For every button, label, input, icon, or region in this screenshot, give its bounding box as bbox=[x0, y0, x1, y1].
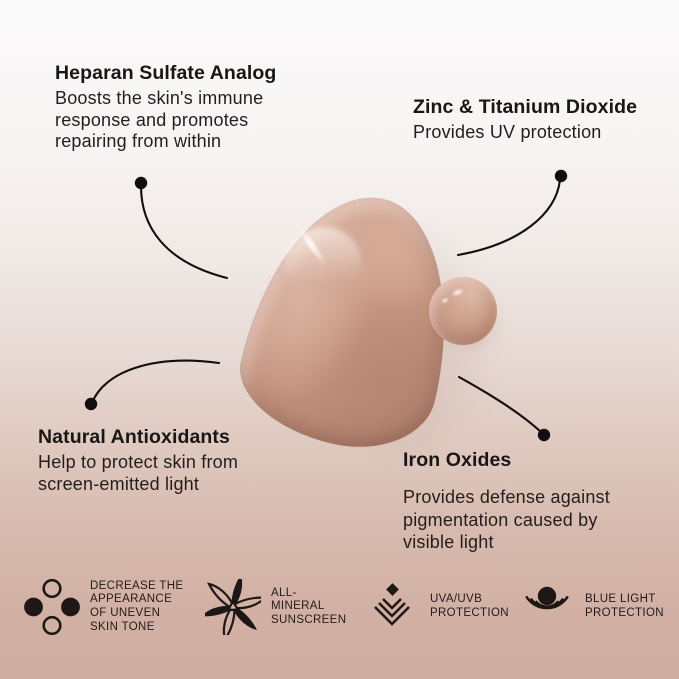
callout-body: Help to protect skin from screen-emitted… bbox=[38, 452, 288, 495]
callout-body: Provides UV protection bbox=[413, 122, 653, 144]
callout-zinc-titanium-dioxide: Zinc & Titanium Dioxide Provides UV prot… bbox=[413, 96, 653, 144]
benefit-blue-light-protection: BLUE LIGHT PROTECTION bbox=[517, 578, 659, 636]
four-circles-icon bbox=[22, 578, 82, 636]
flower-petals-icon bbox=[203, 578, 263, 636]
benefit-label: BLUE LIGHT PROTECTION bbox=[585, 593, 659, 620]
benefit-uva-uvb-protection: UVA/UVB PROTECTION bbox=[362, 578, 500, 636]
callout-natural-antioxidants: Natural Antioxidants Help to protect ski… bbox=[38, 426, 288, 495]
benefit-label: UVA/UVB PROTECTION bbox=[430, 593, 500, 620]
benefit-all-mineral-sunscreen: ALL-MINERAL SUNSCREEN bbox=[203, 578, 345, 636]
cream-droplet bbox=[429, 277, 497, 345]
radiating-arcs-icon bbox=[517, 578, 577, 636]
down-chevrons-icon bbox=[362, 578, 422, 636]
callout-iron-oxides: Iron Oxides Provides defense against pig… bbox=[403, 449, 643, 554]
callout-title: Heparan Sulfate Analog bbox=[55, 62, 305, 85]
callout-body: Provides defense against pigmentation ca… bbox=[403, 486, 643, 554]
benefit-label: ALL-MINERAL SUNSCREEN bbox=[271, 587, 345, 628]
benefit-strip: DECREASE THE APPEARANCE OF UNEVEN SKIN T… bbox=[0, 563, 679, 651]
product-ingredient-infographic: Heparan Sulfate Analog Boosts the skin's… bbox=[0, 0, 679, 679]
callout-body: Boosts the skin's immune response and pr… bbox=[55, 88, 305, 153]
callout-title: Natural Antioxidants bbox=[38, 426, 288, 449]
benefit-decrease-uneven-skin-tone: DECREASE THE APPEARANCE OF UNEVEN SKIN T… bbox=[22, 578, 186, 636]
callout-title: Zinc & Titanium Dioxide bbox=[413, 96, 653, 119]
callout-title: Iron Oxides bbox=[403, 449, 643, 472]
benefit-label: DECREASE THE APPEARANCE OF UNEVEN SKIN T… bbox=[90, 580, 186, 634]
callout-heparan-sulfate-analog: Heparan Sulfate Analog Boosts the skin's… bbox=[55, 62, 305, 153]
